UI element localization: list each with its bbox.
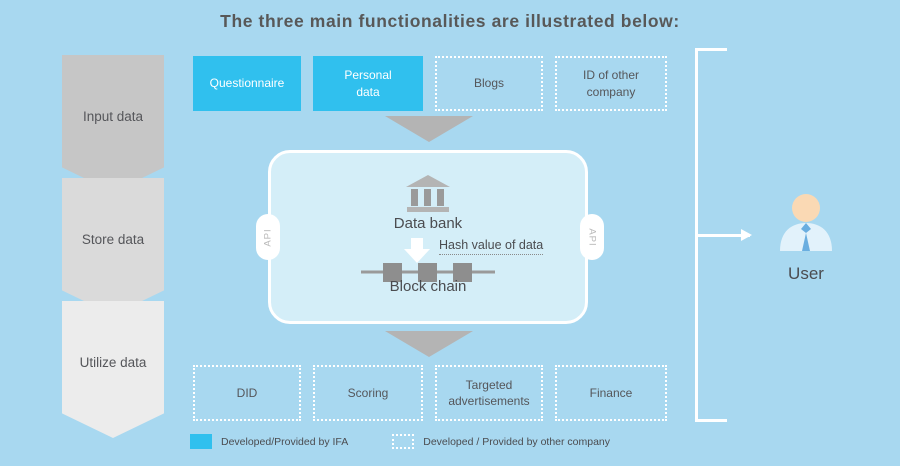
stage-store-data: Store data [62, 178, 164, 315]
arrow-to-user-icon [695, 234, 750, 237]
stage-label: Store data [82, 232, 144, 247]
api-badge-left[interactable]: API [256, 214, 280, 260]
central-panel: Data bank Hash value of data Block chain [268, 150, 588, 324]
stage-input-data: Input data [62, 55, 164, 192]
stage-utilize-data: Utilize data [62, 301, 164, 438]
stage-label: Input data [83, 109, 143, 124]
input-box-questionnaire[interactable]: Questionnaire [193, 56, 301, 111]
user-label: User [768, 264, 844, 284]
input-box-blogs[interactable]: Blogs [435, 56, 543, 111]
api-label: API [587, 228, 598, 246]
bank-icon [404, 173, 452, 218]
diagram-canvas: The three main functionalities are illus… [0, 0, 900, 466]
output-box-scoring[interactable]: Scoring [313, 365, 423, 421]
stage-label: Utilize data [80, 355, 147, 370]
legend-swatch-ifa [190, 434, 212, 449]
output-box-did[interactable]: DID [193, 365, 301, 421]
api-badge-right[interactable]: API [580, 214, 604, 260]
input-box-personal-data[interactable]: Personal data [313, 56, 423, 111]
user-avatar-icon [768, 193, 844, 251]
block-chain-label: Block chain [271, 278, 585, 295]
user-figure: User [768, 193, 844, 284]
legend-label-other: Developed / Provided by other company [423, 436, 610, 448]
input-box-id-of-other-company[interactable]: ID of other company [555, 56, 667, 111]
output-box-targeted-advertisements[interactable]: Targeted advertisements [435, 365, 543, 421]
page-title: The three main functionalities are illus… [0, 11, 900, 32]
legend: Developed/Provided by IFA Developed / Pr… [190, 434, 610, 449]
legend-label-ifa: Developed/Provided by IFA [221, 436, 348, 448]
api-label: API [263, 228, 274, 246]
legend-swatch-other [392, 434, 414, 449]
output-box-finance[interactable]: Finance [555, 365, 667, 421]
stage-column: Input data Store data Utilize data [62, 55, 164, 438]
arrow-down-from-panel-icon [385, 331, 473, 357]
data-bank-label: Data bank [271, 215, 585, 232]
arrow-down-to-panel-icon [385, 116, 473, 142]
hash-value-label: Hash value of data [439, 238, 543, 255]
